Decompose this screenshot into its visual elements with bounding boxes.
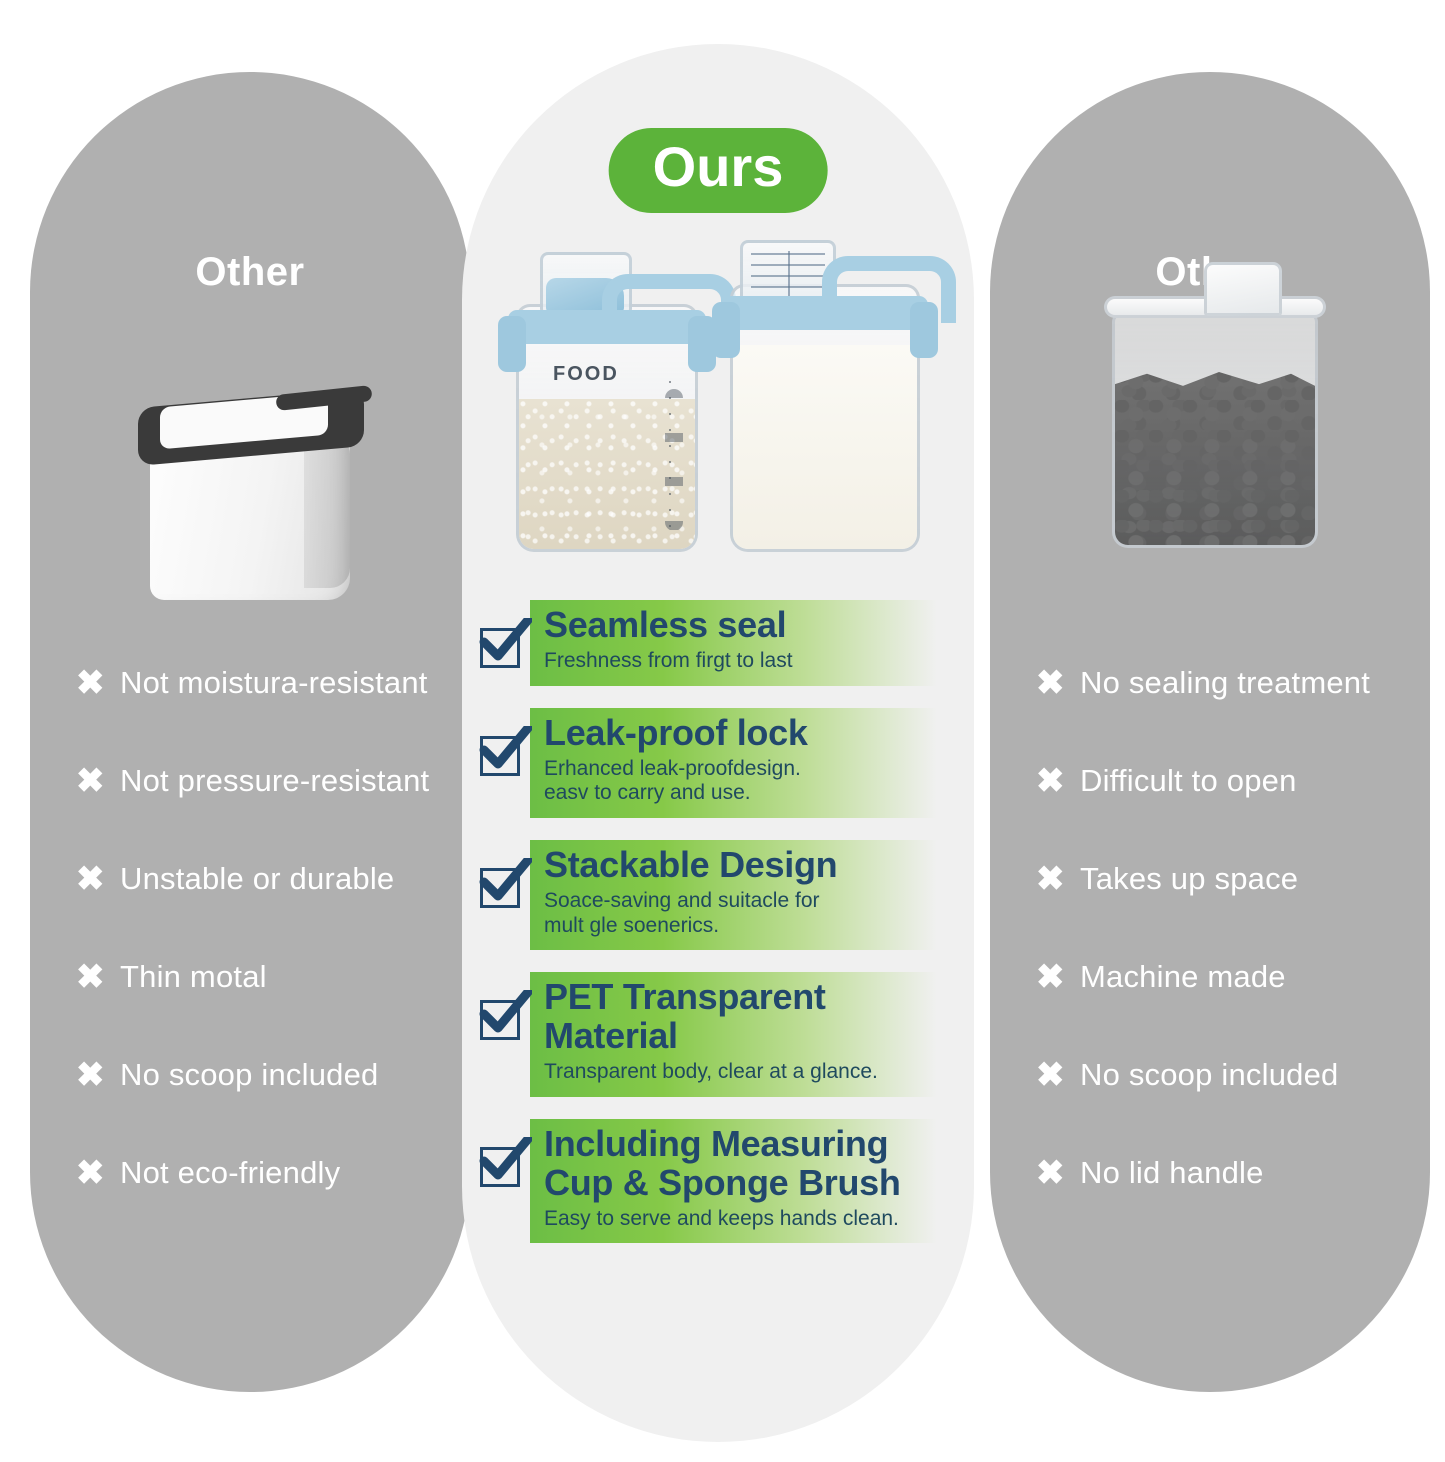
checkbox-checked-icon [472, 986, 530, 1048]
feature-bar: PET Transparent Material Transparent bod… [530, 972, 972, 1097]
feature-bar: Seamless seal Freshness from firgt to la… [530, 600, 972, 686]
check-tick-icon [478, 858, 532, 904]
list-item-label: Machine made [1080, 959, 1286, 995]
features-list: Seamless seal Freshness from firgt to la… [472, 600, 972, 1265]
list-item: ✖ Not pressure-resistant [76, 732, 450, 830]
x-icon: ✖ [1036, 862, 1080, 896]
feature-title: PET Transparent Material [544, 978, 934, 1056]
feature-item: Stackable Design Soace-saving and suitac… [472, 840, 972, 950]
clear-bean-container-icon [1112, 262, 1318, 548]
x-icon: ✖ [76, 862, 120, 896]
list-item-label: No sealing treatment [1080, 665, 1370, 701]
list-item-label: Thin motal [120, 959, 267, 995]
feature-title: Stackable Design [544, 846, 962, 885]
feature-item: Leak-proof lock Erhanced leak-proofdesig… [472, 708, 972, 818]
measuring-cup-graduations [751, 253, 825, 297]
feature-item: PET Transparent Material Transparent bod… [472, 972, 972, 1097]
list-item: ✖ Thin motal [76, 928, 450, 1026]
feature-title: Seamless seal [544, 606, 962, 645]
flour-jar-clip-left [712, 302, 740, 358]
bean-jar-spout [1204, 262, 1282, 316]
feature-bar: Stackable Design Soace-saving and suitac… [530, 840, 972, 950]
x-icon: ✖ [76, 1058, 120, 1092]
feature-subtitle-line: Freshness from firgt to last [544, 649, 962, 674]
white-storage-bin-icon [126, 368, 376, 608]
list-item: ✖ Unstable or durable [76, 830, 450, 928]
list-item: ✖ Not eco-friendly [76, 1124, 450, 1222]
feature-bar: Including Measuring Cup & Sponge Brush E… [530, 1119, 972, 1244]
feature-title: Including Measuring Cup & Sponge Brush [544, 1125, 944, 1203]
flour-container-with-measuring-cup-icon [730, 240, 920, 552]
list-item-label: Takes up space [1080, 861, 1298, 897]
x-icon: ✖ [76, 764, 120, 798]
check-tick-icon [478, 990, 532, 1036]
feature-bar: Leak-proof lock Erhanced leak-proofdesig… [530, 708, 972, 818]
rice-dispenser-container-icon: FOOD [516, 252, 698, 552]
list-item-label: Unstable or durable [120, 861, 394, 897]
cons-list-right: ✖ No sealing treatment ✖ Difficult to op… [1036, 634, 1410, 1222]
list-item: ✖ No lid handle [1036, 1124, 1410, 1222]
measure-dots [665, 389, 683, 531]
feature-subtitle: Easy to serve and keeps hands clean. [544, 1207, 962, 1232]
comparison-infographic: Other ✖ Not moistura-resistant ✖ Not pre… [0, 0, 1445, 1462]
food-label: FOOD [553, 363, 619, 386]
feature-title: Leak-proof lock [544, 714, 962, 753]
list-item: ✖ Not moistura-resistant [76, 634, 450, 732]
feature-subtitle: Transparent body, clear at a glance. [544, 1060, 962, 1085]
cons-list-left: ✖ Not moistura-resistant ✖ Not pressure-… [76, 634, 450, 1222]
list-item-label: No scoop included [1080, 1057, 1338, 1093]
column-title-left: Other [30, 250, 470, 295]
list-item-label: Difficult to open [1080, 763, 1297, 799]
feature-subtitle-line: mult gle soenerics. [544, 914, 962, 939]
flour-contents [733, 345, 917, 549]
x-icon: ✖ [76, 960, 120, 994]
list-item-label: No lid handle [1080, 1155, 1264, 1191]
feature-subtitle-line: Erhanced leak-proofdesign. [544, 757, 962, 782]
checkbox-checked-icon [472, 1133, 530, 1195]
checkbox-checked-icon [472, 614, 530, 676]
list-item: ✖ Difficult to open [1036, 732, 1410, 830]
list-item: ✖ Takes up space [1036, 830, 1410, 928]
feature-subtitle-line: Easy to serve and keeps hands clean. [544, 1207, 962, 1232]
x-icon: ✖ [1036, 960, 1080, 994]
list-item: ✖ No scoop included [76, 1026, 450, 1124]
feature-subtitle-line: easv to carry and use. [544, 781, 962, 806]
bean-contents [1115, 370, 1315, 545]
check-tick-icon [478, 618, 532, 664]
ours-badge: Ours [609, 128, 828, 213]
feature-subtitle-line: Soace-saving and suitacle for [544, 889, 962, 914]
column-other-left: Other ✖ Not moistura-resistant ✖ Not pre… [30, 72, 470, 1392]
flour-jar-handle [822, 256, 956, 323]
feature-item: Seamless seal Freshness from firgt to la… [472, 600, 972, 686]
x-icon: ✖ [76, 1156, 120, 1190]
check-tick-icon [478, 1137, 532, 1183]
x-icon: ✖ [76, 666, 120, 700]
feature-subtitle: Erhanced leak-proofdesign. easv to carry… [544, 757, 962, 807]
list-item-label: No scoop included [120, 1057, 378, 1093]
feature-subtitle-line: Transparent body, clear at a glance. [544, 1060, 962, 1085]
rice-jar-clip-left [498, 316, 526, 372]
list-item-label: Not eco-friendly [120, 1155, 340, 1191]
checkbox-checked-icon [472, 854, 530, 916]
x-icon: ✖ [1036, 764, 1080, 798]
feature-item: Including Measuring Cup & Sponge Brush E… [472, 1119, 972, 1244]
list-item: ✖ No sealing treatment [1036, 634, 1410, 732]
check-tick-icon [478, 726, 532, 772]
checkbox-checked-icon [472, 722, 530, 784]
x-icon: ✖ [1036, 1156, 1080, 1190]
feature-subtitle: Soace-saving and suitacle for mult gle s… [544, 889, 962, 939]
x-icon: ✖ [1036, 666, 1080, 700]
bean-jar-body [1112, 312, 1318, 548]
x-icon: ✖ [1036, 1058, 1080, 1092]
list-item: ✖ No scoop included [1036, 1026, 1410, 1124]
list-item: ✖ Machine made [1036, 928, 1410, 1026]
list-item-label: Not pressure-resistant [120, 763, 429, 799]
feature-subtitle: Freshness from firgt to last [544, 649, 962, 674]
list-item-label: Not moistura-resistant [120, 665, 428, 701]
